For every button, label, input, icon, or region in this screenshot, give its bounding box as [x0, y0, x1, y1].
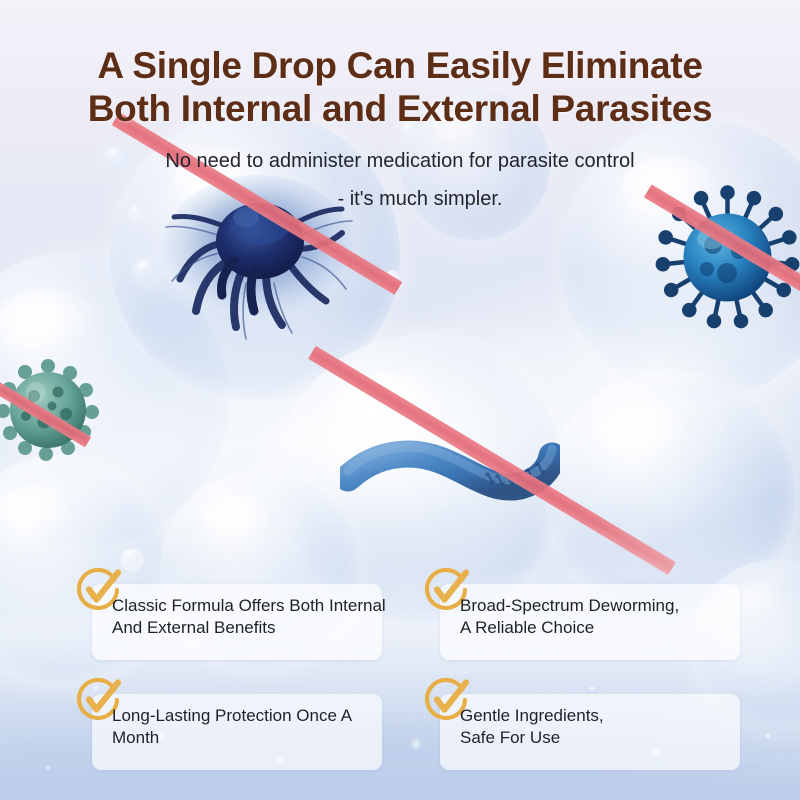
benefit-text-line-2: And External Benefits	[112, 617, 382, 639]
benefit-text-line-1: Gentle Ingredients,	[460, 705, 730, 727]
benefit-text: Broad-Spectrum Deworming, A Reliable Cho…	[460, 595, 730, 639]
benefit-text-line-2: Month	[112, 727, 382, 749]
subheadline: No need to administer medication for par…	[0, 142, 800, 218]
product-banner: A Single Drop Can Easily Eliminate Both …	[0, 0, 800, 800]
benefit-text-line-2: A Reliable Choice	[460, 617, 730, 639]
benefit-text-line-1: Broad-Spectrum Deworming,	[460, 595, 730, 617]
benefit-text: Long-Lasting Protection Once A Month	[112, 705, 382, 749]
benefit-item-long-lasting: Long-Lasting Protection Once A Month	[74, 676, 422, 786]
subheadline-line-1: No need to administer medication for par…	[0, 142, 800, 180]
benefit-text: Classic Formula Offers Both Internal And…	[112, 595, 382, 639]
headline: A Single Drop Can Easily Eliminate Both …	[0, 44, 800, 130]
benefit-text-line-1: Long-Lasting Protection Once A	[112, 705, 382, 727]
benefits-grid: Classic Formula Offers Both Internal And…	[74, 566, 746, 786]
benefit-text: Gentle Ingredients, Safe For Use	[460, 705, 730, 749]
benefit-item-gentle: Gentle Ingredients, Safe For Use	[422, 676, 746, 786]
headline-line-1: A Single Drop Can Easily Eliminate	[0, 44, 800, 87]
benefit-item-broad-spectrum: Broad-Spectrum Deworming, A Reliable Cho…	[422, 566, 746, 676]
benefit-text-line-2: Safe For Use	[460, 727, 730, 749]
benefit-text-line-1: Classic Formula Offers Both Internal	[112, 595, 382, 617]
headline-line-2: Both Internal and External Parasites	[0, 87, 800, 130]
subheadline-line-2: - it's much simpler.	[0, 180, 800, 218]
benefit-item-internal-external: Classic Formula Offers Both Internal And…	[74, 566, 422, 676]
